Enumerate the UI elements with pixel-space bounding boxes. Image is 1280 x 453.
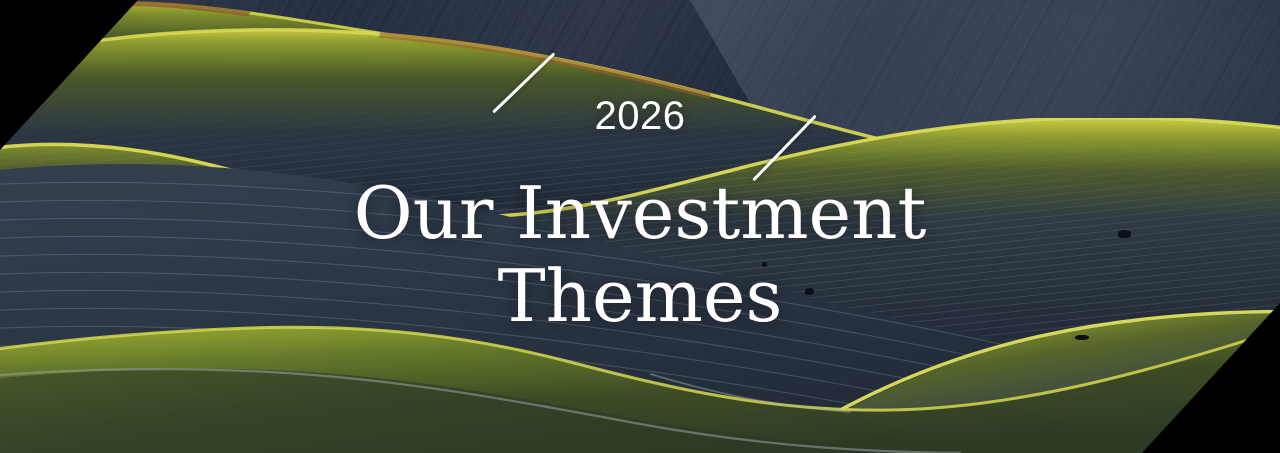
hero-background-photo (0, 0, 1280, 453)
grazing-animal (762, 262, 767, 267)
grazing-animal (1118, 230, 1131, 238)
grazing-animal (805, 288, 814, 295)
shrub-clump (1075, 335, 1089, 340)
hill-foreground (0, 300, 1280, 453)
hero-banner: 2026 Our Investment Themes (0, 0, 1280, 453)
